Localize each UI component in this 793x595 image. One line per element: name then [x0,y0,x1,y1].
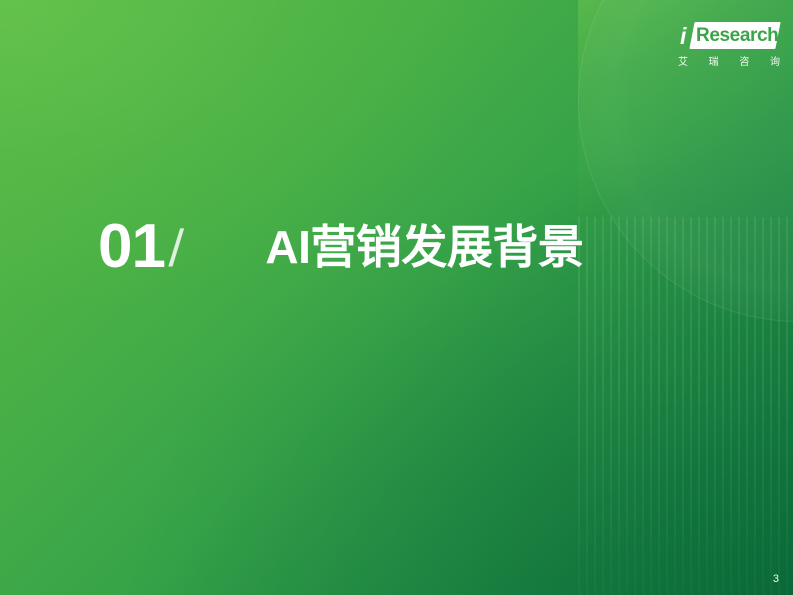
section-number: 01 [98,216,165,278]
section-separator-slash: / [168,218,185,280]
page-title: AI营销发展背景 [265,216,583,278]
section-title-block: 01 / AI营销发展背景 [98,216,583,278]
logo-cn-char-1: 艾 [678,53,688,68]
page-number: 3 [773,573,779,586]
section-divider-slide: i Research 艾 瑞 咨 询 01 / AI营销发展背景 3 [0,0,793,595]
logo-cn-char-3: 咨 [739,53,749,68]
logo-chinese-name: 艾 瑞 咨 询 [678,53,780,68]
iresearch-logo: i Research 艾 瑞 咨 询 [676,22,780,74]
vertical-stripe-pattern [578,217,793,595]
logo-wordmark-group: i Research [676,22,780,52]
logo-i-letter: i [680,24,686,49]
logo-research-text: Research [696,25,780,46]
logo-cn-char-4: 询 [770,53,780,68]
logo-cn-char-2: 瑞 [709,53,719,68]
